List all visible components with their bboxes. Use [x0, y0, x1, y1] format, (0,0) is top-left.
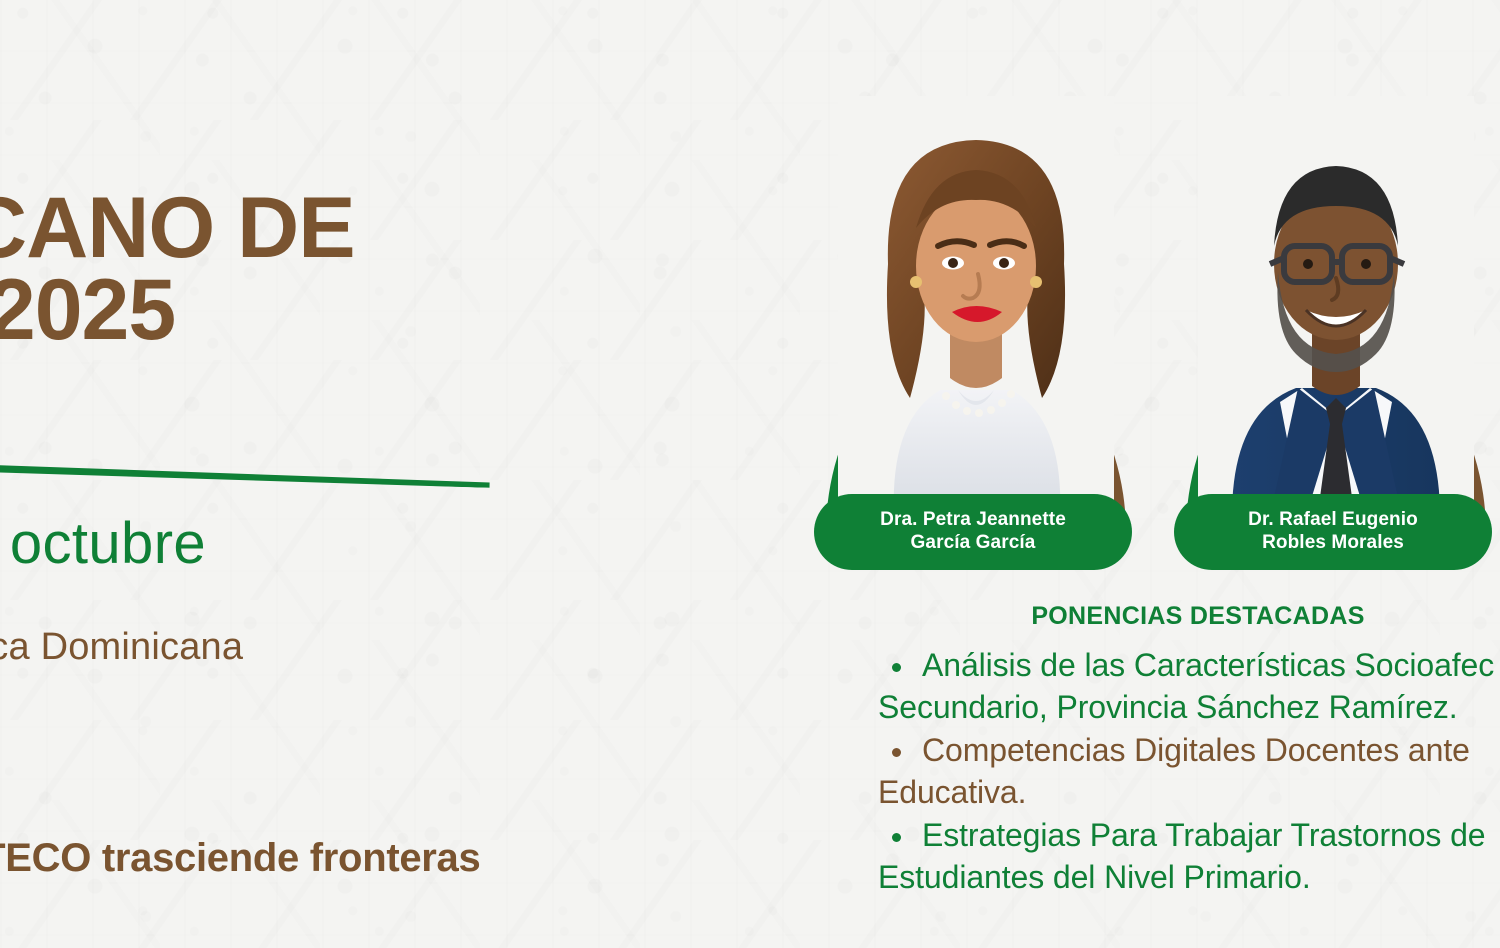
talk-list-item: Competencias Digitales Docentes ante Edu… [878, 730, 1500, 813]
bullet-icon [892, 663, 901, 672]
featured-talks-list: Análisis de las Características Socioafe… [878, 645, 1500, 899]
featured-talks-section: PONENCIAS DESTACADAS Análisis de las Car… [878, 602, 1500, 901]
talk-list-item: Análisis de las Características Socioafe… [878, 645, 1500, 728]
event-tagline: nica de UTECO trasciende fronteras [0, 836, 480, 881]
speaker-photo [838, 96, 1114, 516]
featured-talks-heading: PONENCIAS DESTACADAS [878, 602, 1500, 631]
speaker-name-badge: Dr. Rafael Eugenio Robles Morales [1174, 494, 1492, 570]
speaker-card: Dra. Petra Jeannette García García [808, 96, 1138, 566]
speakers-section: Dra. Petra Jeannette García García [800, 96, 1500, 576]
event-location: pública Dominicana [0, 626, 243, 669]
talk-line-1: Competencias Digitales Docentes ante [922, 730, 1500, 772]
event-title: NTRO MERICANO DE CIÓN 2025 [0, 104, 764, 352]
talk-line-1: Estrategias Para Trabajar Trastornos de [922, 815, 1500, 857]
poster-left-column: NTRO MERICANO DE CIÓN 2025 de octubre pú… [0, 0, 800, 948]
event-date: de octubre [0, 510, 206, 577]
speaker-photo [1198, 96, 1474, 516]
talk-line-2: Estudiantes del Nivel Primario. [878, 857, 1500, 899]
talk-list-item: Estrategias Para Trabajar Trastornos de … [878, 815, 1500, 898]
bullet-icon [892, 748, 901, 757]
title-underline-rule [0, 462, 490, 488]
speaker-card: Dr. Rafael Eugenio Robles Morales [1168, 96, 1498, 566]
talk-line-2: Educativa. [878, 772, 1500, 814]
talk-line-1: Análisis de las Características Socioafe… [922, 645, 1500, 687]
speaker-name-badge: Dra. Petra Jeannette García García [814, 494, 1132, 570]
talk-line-2: Secundario, Provincia Sánchez Ramírez. [878, 687, 1500, 729]
event-poster: NTRO MERICANO DE CIÓN 2025 de octubre pú… [0, 0, 1500, 948]
bullet-icon [892, 833, 901, 842]
